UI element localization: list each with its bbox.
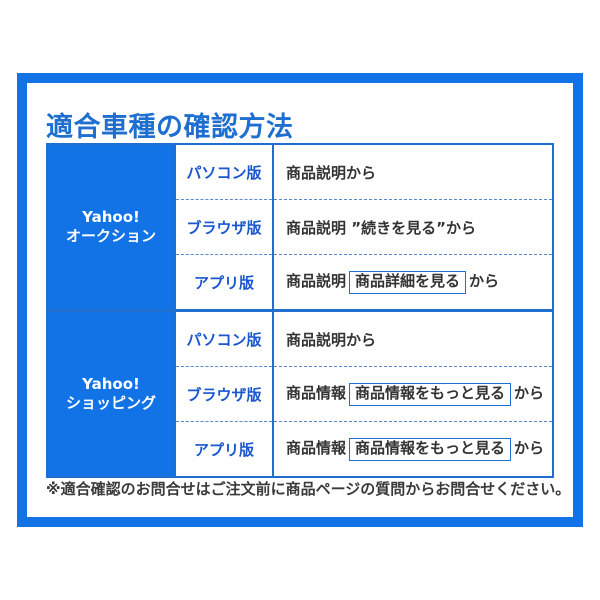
platform-label: アプリ版 [175, 422, 273, 477]
brand-line1: Yahoo! [48, 375, 174, 394]
brand-cell-shopping: Yahoo! ショッピング [48, 311, 175, 477]
platform-label: アプリ版 [175, 255, 273, 311]
description-suffix: から [514, 384, 544, 402]
description-prefix: 商品情報 [286, 439, 346, 457]
compatibility-table: Yahoo! オークション パソコン版 商品説明から ブラウザ版 商品説明 [46, 143, 554, 478]
platform-label: パソコン版 [175, 311, 273, 367]
platform-label: パソコン版 [175, 145, 273, 200]
description-cell: 商品説明 ”続きを見る”から [273, 200, 552, 255]
brand-line2: ショッピング [48, 394, 174, 413]
description-suffix: から [469, 272, 499, 290]
description-prefix: 商品説明 ”続きを見る”から [286, 219, 476, 237]
description-prefix: 商品情報 [286, 384, 346, 402]
description-cell: 商品情報商品情報をもっと見るから [273, 367, 552, 422]
ui-button-reference[interactable]: 商品情報をもっと見る [349, 383, 511, 405]
description-suffix: から [514, 439, 544, 457]
brand-line2: オークション [48, 227, 174, 246]
description-prefix: 商品説明から [286, 331, 376, 349]
description-cell: 商品情報商品情報をもっと見るから [273, 422, 552, 477]
table-row: Yahoo! ショッピング パソコン版 商品説明から [48, 311, 552, 367]
table-row: Yahoo! オークション パソコン版 商品説明から [48, 145, 552, 200]
description-prefix: 商品説明 [286, 272, 346, 290]
description-cell: 商品説明商品詳細を見るから [273, 255, 552, 311]
platform-label: ブラウザ版 [175, 200, 273, 255]
outer-blue-frame: 適合車種の確認方法 Yahoo! オークション パソコン版 商品説明から [17, 73, 583, 527]
brand-cell-auction: Yahoo! オークション [48, 145, 175, 311]
description-cell: 商品説明から [273, 311, 552, 367]
platform-label: ブラウザ版 [175, 367, 273, 422]
description-cell: 商品説明から [273, 145, 552, 200]
frame-inner-panel: 適合車種の確認方法 Yahoo! オークション パソコン版 商品説明から [27, 83, 573, 517]
ui-button-reference[interactable]: 商品詳細を見る [349, 271, 466, 293]
description-prefix: 商品説明から [286, 164, 376, 182]
footnote-text: ※適合確認のお問合せはご注文前に商品ページの質問からお問合せください。 [46, 478, 570, 499]
page-root: 適合車種の確認方法 Yahoo! オークション パソコン版 商品説明から [0, 0, 600, 600]
brand-line1: Yahoo! [48, 208, 174, 227]
page-title: 適合車種の確認方法 [46, 105, 294, 144]
ui-button-reference[interactable]: 商品情報をもっと見る [349, 438, 511, 460]
